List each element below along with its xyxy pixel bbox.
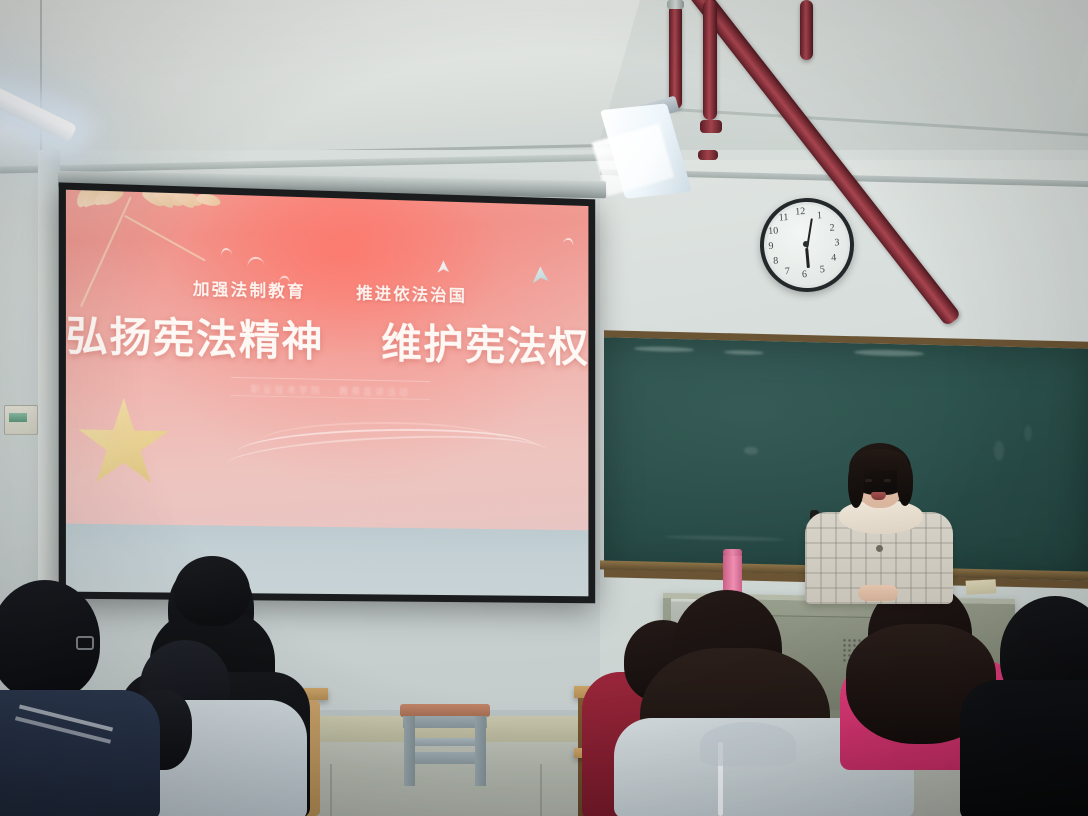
clock-numeral: 2 [825,222,840,234]
screen-blank-area [66,523,588,596]
jacket-button [876,545,883,552]
wall-panel-display [9,413,27,422]
dove-icon [532,266,549,285]
clock-numeral: 4 [826,252,841,264]
clock-numeral: 6 [797,269,812,281]
clock-numeral: 11 [776,212,791,224]
projection-screen: 加强法制教育 推进依法治国 弘扬宪法精神 维护宪法权威 职业技术学院 · 教育宣… [59,182,595,603]
thermos-cap [723,549,742,556]
eyeglasses [76,636,94,650]
presenter-mouth [871,492,886,500]
pipe-collar [698,150,718,160]
screen-surface: 加强法制教育 推进依法治国 弘扬宪法精神 维护宪法权威 职业技术学院 · 教育宣… [66,190,588,597]
slide-divider [231,377,430,382]
clock-numeral: 9 [764,241,779,253]
clock-numeral: 10 [766,225,781,237]
presenter-hands [858,585,898,601]
classroom-photo: 12 1 2 3 4 5 6 7 8 9 10 11 [0,0,1088,816]
clock-numeral: 7 [780,266,795,278]
floor-seam [330,764,332,816]
stool-shelf [410,738,480,746]
clock-numeral: 8 [769,255,784,267]
stool [400,704,490,786]
paper-sheet [966,579,997,595]
floor-seam [540,764,542,816]
clock-numeral: 5 [815,264,830,276]
slide-subtitle: 职业技术学院 · 教育宣讲活动 [66,378,588,402]
gold-star-graphic [77,397,171,492]
slide-title-right: 维护宪法权威 [381,320,588,371]
slide-kicker-right: 推进依法治国 [356,279,467,306]
hood [700,722,796,766]
sprinkler-pipe-vertical [703,0,717,120]
sprinkler-pipe-vertical [669,4,682,109]
stool-rail [410,752,480,764]
presenter-bangs [853,449,907,471]
slide-background: 加强法制教育 推进依法治国 弘扬宪法精神 维护宪法权威 职业技术学院 · 教育宣… [66,190,588,530]
clock-numeral: 3 [830,237,845,249]
presenter-eye [884,479,891,482]
clock-numeral: 1 [812,210,827,222]
presenter-eye [865,479,872,482]
clock-numeral: 12 [793,206,808,218]
slide-title-line: 弘扬宪法精神 维护宪法权威 [66,301,588,373]
slide-title-left: 弘扬宪法精神 [66,313,324,365]
pipe-cap [667,0,684,9]
slide-kicker-left: 加强法制教育 [193,275,306,302]
sprinkler-pipe-vertical [800,0,813,60]
pipe-collar [700,120,722,133]
dove-icon [562,237,574,248]
